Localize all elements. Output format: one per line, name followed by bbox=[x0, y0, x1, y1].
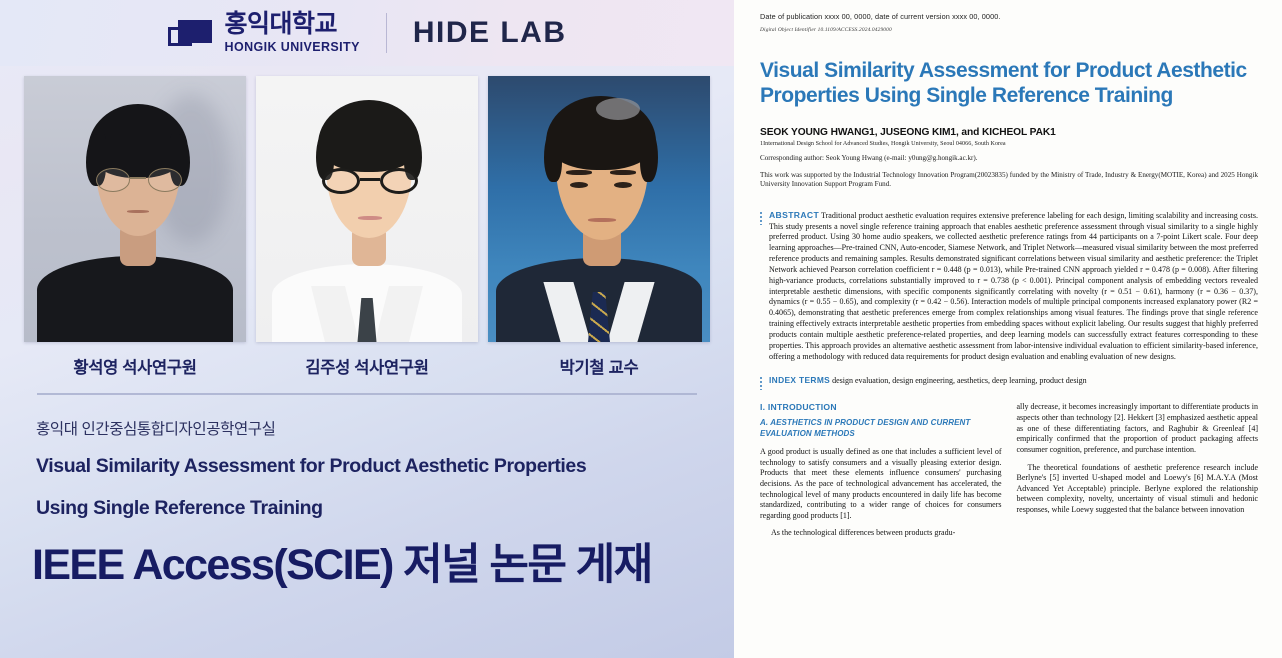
subsection-heading-aesthetics: A. AESTHETICS IN PRODUCT DESIGN AND CURR… bbox=[760, 418, 1002, 440]
lab-name-label: 홍익대 인간중심통합디자인공학연구실 bbox=[36, 417, 734, 439]
doi-line: Digital Object Identifier 10.1109/ACCESS… bbox=[760, 27, 1258, 33]
funding-note: This work was supported by the Industria… bbox=[760, 171, 1258, 190]
index-terms-wrapper: INDEX TERMS design evaluation, design en… bbox=[769, 375, 1258, 385]
eyeglasses-1 bbox=[94, 168, 184, 192]
index-terms-label: INDEX TERMS bbox=[769, 375, 830, 385]
poster-panel: 홍익대학교 HONGIK UNIVERSITY HIDE LAB bbox=[0, 0, 734, 658]
person-name-1: 황석영 석사연구원 bbox=[24, 354, 246, 378]
hongik-university-logo: 홍익대학교 HONGIK UNIVERSITY bbox=[168, 12, 360, 54]
logo-divider bbox=[386, 13, 387, 53]
column-left: I. INTRODUCTION A. AESTHETICS IN PRODUCT… bbox=[760, 402, 1002, 539]
portrait-figure-1 bbox=[24, 76, 246, 342]
paper-affiliation: 1International Design School for Advance… bbox=[760, 141, 1258, 147]
paragraph-right-2: The theoretical foundations of aesthetic… bbox=[1017, 463, 1259, 516]
hongik-wordmark: 홍익대학교 HONGIK UNIVERSITY bbox=[225, 12, 360, 54]
person-name-2: 김주성 석사연구원 bbox=[256, 354, 478, 378]
hongik-rectangles-icon bbox=[168, 18, 214, 48]
logo-group: 홍익대학교 HONGIK UNIVERSITY HIDE LAB bbox=[168, 12, 567, 54]
two-column-body: I. INTRODUCTION A. AESTHETICS IN PRODUCT… bbox=[760, 402, 1258, 539]
abstract-block: ABSTRACT Traditional product aesthetic e… bbox=[760, 210, 1258, 363]
paper-authors: SEOK YOUNG HWANG1, JUSEONG KIM1, and KIC… bbox=[760, 127, 1258, 138]
portrait-photo-3 bbox=[488, 76, 710, 342]
eyeglasses-2 bbox=[322, 168, 418, 194]
poster-header: 홍익대학교 HONGIK UNIVERSITY HIDE LAB bbox=[0, 0, 734, 66]
poster-subtitle-line-2: Using Single Reference Training bbox=[36, 499, 734, 519]
abstract-text: Traditional product aesthetic evaluation… bbox=[769, 211, 1258, 361]
abstract-dot-rule-icon bbox=[760, 211, 762, 225]
portrait-row bbox=[0, 68, 734, 342]
poster-subtitle-line-1: Visual Similarity Assessment for Product… bbox=[36, 457, 734, 477]
poster-and-paper-screen: 홍익대학교 HONGIK UNIVERSITY HIDE LAB bbox=[0, 0, 1282, 658]
section-heading-introduction: I. INTRODUCTION bbox=[760, 402, 1002, 412]
hide-lab-logo: HIDE LAB bbox=[413, 16, 567, 50]
paper-page: Date of publication xxxx 00, 0000, date … bbox=[734, 0, 1282, 658]
paragraph-left-2: As the technological differences between… bbox=[760, 528, 1002, 539]
portrait-photo-2 bbox=[256, 76, 478, 342]
poster-headline: IEEE Access(SCIE) 저널 논문 게재 bbox=[32, 544, 734, 587]
index-terms-block: INDEX TERMS design evaluation, design en… bbox=[760, 375, 1258, 385]
paragraph-right-1: ally decrease, it becomes increasingly i… bbox=[1017, 402, 1259, 455]
corresponding-author: Corresponding author: Seok Young Hwang (… bbox=[760, 154, 1258, 162]
index-terms-text: design evaluation, design engineering, a… bbox=[832, 376, 1087, 385]
paper-title: Visual Similarity Assessment for Product… bbox=[760, 59, 1258, 109]
publication-date-line: Date of publication xxxx 00, 0000, date … bbox=[760, 12, 1258, 21]
index-dot-rule-icon bbox=[760, 376, 762, 390]
portrait-photo-1 bbox=[24, 76, 246, 342]
portrait-figure-2 bbox=[256, 76, 478, 342]
abstract-text-wrapper: ABSTRACT Traditional product aesthetic e… bbox=[769, 210, 1258, 363]
column-right: ally decrease, it becomes increasingly i… bbox=[1017, 402, 1259, 539]
hongik-name-korean: 홍익대학교 bbox=[225, 12, 338, 37]
horizontal-divider bbox=[37, 393, 697, 395]
portrait-figure-3 bbox=[488, 76, 710, 342]
hongik-rect-filled bbox=[178, 20, 212, 43]
abstract-label: ABSTRACT bbox=[769, 210, 819, 220]
paragraph-left-1: A good product is usually defined as one… bbox=[760, 447, 1002, 521]
hongik-name-english: HONGIK UNIVERSITY bbox=[225, 41, 360, 54]
person-name-3: 박기철 교수 bbox=[488, 354, 710, 378]
portrait-names: 황석영 석사연구원 김주성 석사연구원 박기철 교수 bbox=[0, 354, 734, 378]
